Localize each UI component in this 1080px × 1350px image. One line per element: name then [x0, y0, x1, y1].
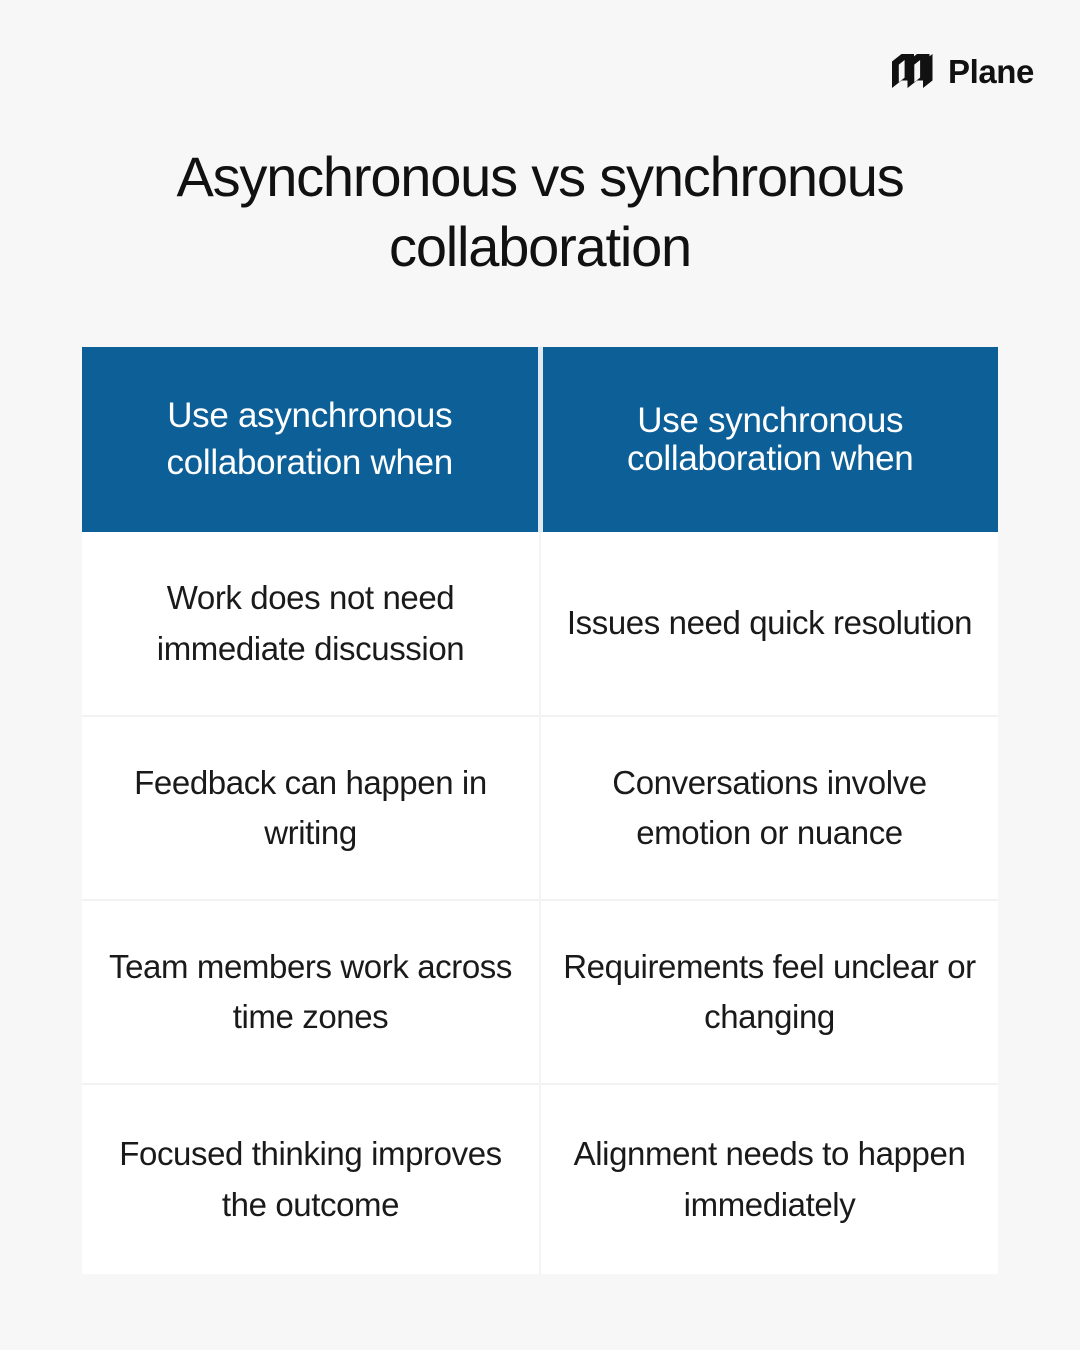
- table-row: Focused thinking improves the outcome Al…: [82, 1084, 998, 1274]
- cell-sync-4: Alignment needs to happen immediately: [540, 1084, 998, 1274]
- cell-async-2: Feedback can happen in writing: [82, 716, 540, 900]
- table-row: Team members work across time zones Requ…: [82, 900, 998, 1084]
- cell-sync-2: Conversations involve emotion or nuance: [540, 716, 998, 900]
- table-row: Work does not need immediate discussion …: [82, 532, 998, 716]
- cell-async-3: Team members work across time zones: [82, 900, 540, 1084]
- table-header-row: Use asynchronous collaboration when Use …: [82, 347, 998, 532]
- table-header: Use asynchronous collaboration when Use …: [82, 347, 998, 532]
- cell-async-4: Focused thinking improves the outcome: [82, 1084, 540, 1274]
- cell-sync-1: Issues need quick resolution: [540, 532, 998, 716]
- page-title: Asynchronous vs synchronous collaboratio…: [110, 142, 970, 282]
- column-header-asynchronous: Use asynchronous collaboration when: [82, 347, 540, 532]
- column-header-synchronous: Use synchronous collaboration when: [540, 347, 998, 532]
- brand-name: Plane: [948, 55, 1034, 88]
- cell-async-1: Work does not need immediate discussion: [82, 532, 540, 716]
- brand-logo: Plane: [890, 52, 1034, 90]
- plane-logo-mark-icon: [890, 52, 938, 90]
- comparison-table: Use asynchronous collaboration when Use …: [82, 347, 998, 1274]
- table-body: Work does not need immediate discussion …: [82, 532, 998, 1274]
- cell-sync-3: Requirements feel unclear or changing: [540, 900, 998, 1084]
- table-row: Feedback can happen in writing Conversat…: [82, 716, 998, 900]
